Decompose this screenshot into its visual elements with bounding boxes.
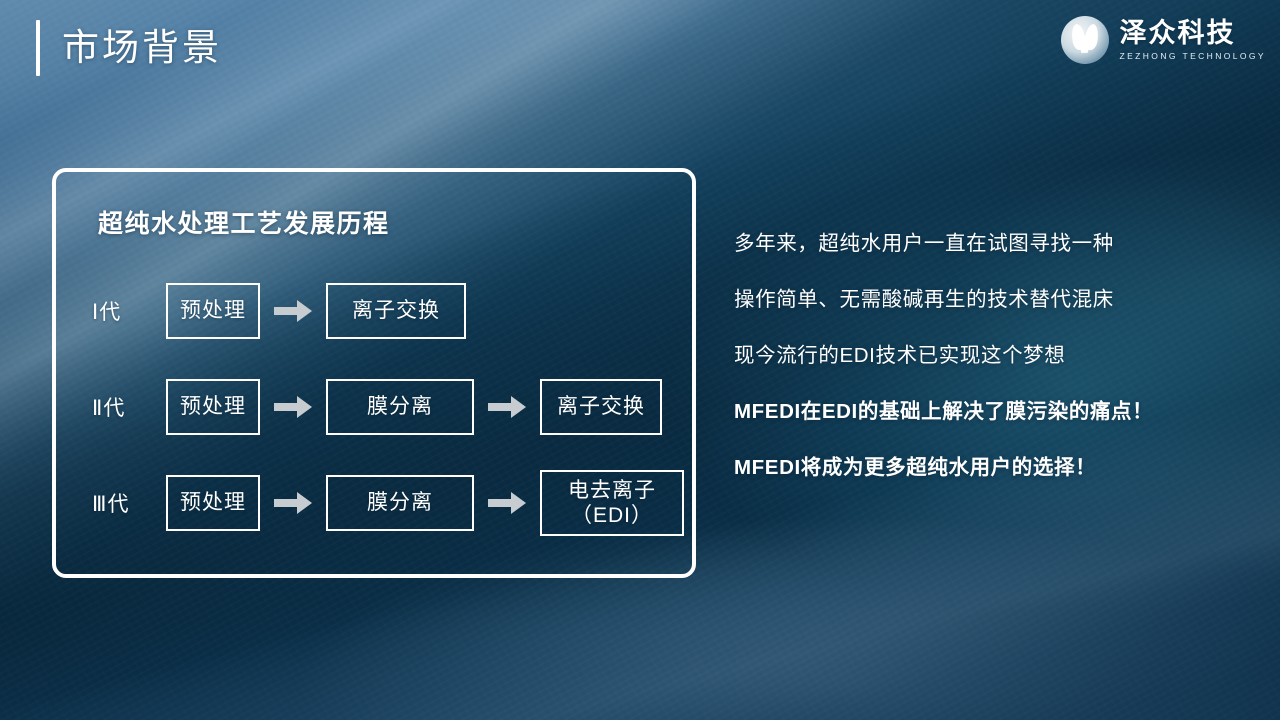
arrow-right-icon: [488, 396, 526, 418]
arrow-shaft: [274, 307, 298, 315]
process-flow-rows: Ⅰ代预处理离子交换Ⅱ代预处理膜分离离子交换Ⅲ代预处理膜分离电去离子 （EDI）: [56, 276, 692, 538]
panel-title: 超纯水处理工艺发展历程: [98, 204, 390, 240]
arrow-head: [511, 492, 526, 514]
generation-label: Ⅰ代: [92, 296, 166, 326]
arrow-right-icon: [488, 492, 526, 514]
arrow-head: [511, 396, 526, 418]
arrow-right-icon: [274, 396, 312, 418]
arrow-shaft: [274, 403, 298, 411]
process-node: 离子交换: [540, 379, 662, 435]
note-line: 多年来，超纯水用户一直在试图寻找一种: [734, 216, 1254, 272]
note-line: MFEDI在EDI的基础上解决了膜污染的痛点！: [734, 384, 1254, 440]
generation-label: Ⅲ代: [92, 488, 166, 518]
arrow-head: [297, 396, 312, 418]
process-node: 预处理: [166, 475, 260, 531]
slide-canvas: 市场背景 泽众科技 ZEZHONG TECHNOLOGY 超纯水处理工艺发展历程…: [0, 0, 1280, 720]
process-flow-row: Ⅲ代预处理膜分离电去离子 （EDI）: [56, 468, 692, 538]
process-node: 膜分离: [326, 379, 474, 435]
note-line: MFEDI将成为更多超纯水用户的选择！: [734, 440, 1254, 496]
generation-label: Ⅱ代: [92, 392, 166, 422]
arrow-shaft: [488, 403, 512, 411]
process-flow-row: Ⅱ代预处理膜分离离子交换: [56, 372, 692, 442]
arrow-head: [297, 492, 312, 514]
process-flow-row: Ⅰ代预处理离子交换: [56, 276, 692, 346]
notes-block: 多年来，超纯水用户一直在试图寻找一种操作简单、无需酸碱再生的技术替代混床现今流行…: [734, 216, 1254, 496]
page-title-group: 市场背景: [36, 20, 222, 76]
page-title: 市场背景: [62, 20, 222, 76]
note-line: 现今流行的EDI技术已实现这个梦想: [734, 328, 1254, 384]
process-node: 膜分离: [326, 475, 474, 531]
arrow-shaft: [488, 499, 512, 507]
process-history-panel: 超纯水处理工艺发展历程 Ⅰ代预处理离子交换Ⅱ代预处理膜分离离子交换Ⅲ代预处理膜分…: [52, 168, 696, 578]
brand-logo-text: 泽众科技 ZEZHONG TECHNOLOGY: [1120, 20, 1266, 61]
brand-name-en: ZEZHONG TECHNOLOGY: [1120, 52, 1266, 61]
arrow-shaft: [274, 499, 298, 507]
brand-name-cn: 泽众科技: [1120, 20, 1266, 47]
brand-logo: 泽众科技 ZEZHONG TECHNOLOGY: [1061, 16, 1266, 64]
process-node: 离子交换: [326, 283, 466, 339]
arrow-right-icon: [274, 300, 312, 322]
title-accent-bar: [36, 20, 40, 76]
arrow-head: [297, 300, 312, 322]
arrow-right-icon: [274, 492, 312, 514]
note-line: 操作简单、无需酸碱再生的技术替代混床: [734, 272, 1254, 328]
process-node: 预处理: [166, 283, 260, 339]
water-droplet-icon: [1061, 16, 1109, 64]
process-node: 预处理: [166, 379, 260, 435]
process-node: 电去离子 （EDI）: [540, 470, 684, 536]
slide-header: 市场背景 泽众科技 ZEZHONG TECHNOLOGY: [0, 0, 1280, 100]
